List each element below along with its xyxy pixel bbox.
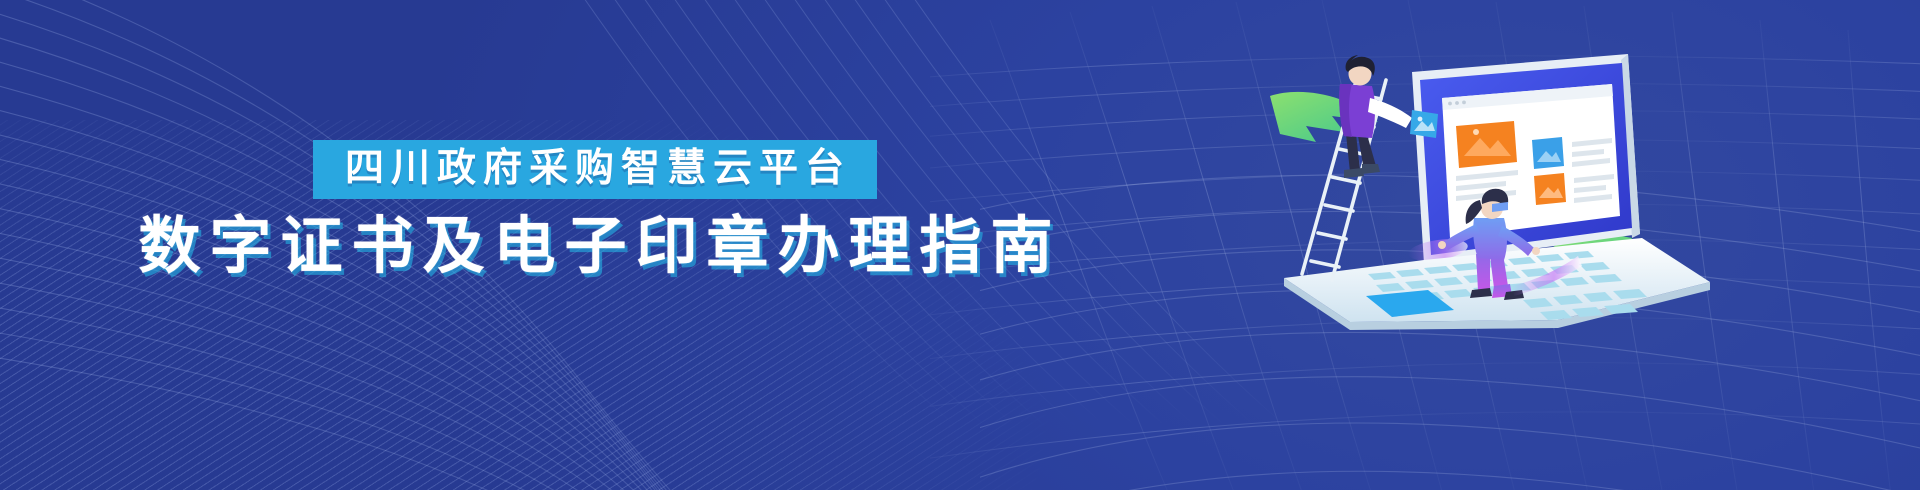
page-title: 数字证书及电子印章办理指南: [0, 216, 1190, 278]
promo-banner: 四川政府采购智慧云平台 数字证书及电子印章办理指南: [0, 0, 1920, 490]
image-card-small-orange: [1534, 173, 1566, 205]
isometric-laptop-illustration: [1240, 38, 1760, 328]
platform-badge: 四川政府采购智慧云平台: [313, 140, 877, 199]
image-card-blue: [1532, 137, 1564, 169]
banner-text-block: 四川政府采购智慧云平台 数字证书及电子印章办理指南: [0, 140, 1190, 278]
image-card-large: [1456, 121, 1517, 168]
laptop-screen: [1407, 54, 1640, 264]
floating-image-tile: [1410, 110, 1438, 138]
